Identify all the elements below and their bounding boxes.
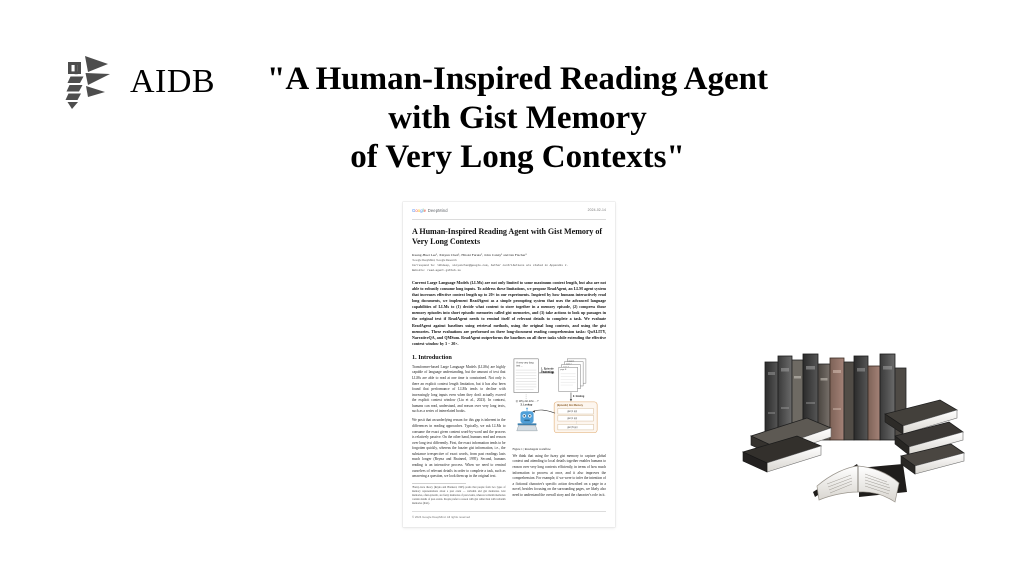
slide-root: AIDB "A Human-Inspired Reading Agent wit… — [0, 0, 1024, 576]
google-deepmind-logo: GoogleDeepMind — [412, 209, 448, 213]
svg-text:page N: page N — [560, 369, 567, 371]
svg-text:Q: Why did John ... ?: Q: Why did John ... ? — [515, 400, 538, 403]
svg-text:Pagination: Pagination — [541, 370, 554, 373]
svg-text:⋮: ⋮ — [574, 420, 577, 424]
figure-caption: Figure 1 | ReadAgent workflow. — [513, 447, 607, 451]
svg-text:gist (1 pp): gist (1 pp) — [567, 410, 577, 413]
paper-header: GoogleDeepMind 2024-02-14 — [412, 209, 606, 217]
headline-line-2: with Gist Memory — [245, 99, 790, 138]
paper-title: A Human-Inspired Reading Agent with Gist… — [412, 227, 606, 247]
copyright-rule — [412, 511, 606, 512]
page-title: "A Human-Inspired Reading Agent with Gis… — [245, 60, 790, 177]
paper-copyright: © 2024 Google DeepMind. All rights reser… — [412, 515, 470, 519]
paper-date: 2024-02-14 — [588, 209, 606, 212]
svg-text:(Episodic) Gist Memory: (Episodic) Gist Memory — [556, 404, 583, 407]
paper-thumbnail[interactable]: GoogleDeepMind 2024-02-14 A Human-Inspir… — [403, 202, 615, 527]
stack-of-books-illustration — [735, 352, 967, 508]
bee-logo-icon — [58, 52, 114, 112]
brand-name: AIDB — [130, 65, 215, 99]
paper-columns: 1. Introduction Transformer-based Large … — [412, 354, 606, 506]
headline-line-1: "A Human-Inspired Reading Agent — [245, 60, 790, 99]
paper-body-right: We think that using the fuzzy gist memor… — [513, 454, 607, 499]
paper-affiliations: ¹Google DeepMind, ²Google Research — [412, 258, 606, 262]
paper-footnote: ¹Fuzzy-trace theory (Reyna and Brainerd,… — [412, 486, 506, 505]
paper-website[interactable]: Website: read-agent.github.io — [412, 269, 606, 273]
paragraph: We think that using the fuzzy gist memor… — [513, 454, 607, 499]
paper-header-rule — [412, 219, 606, 220]
paper-abstract: Current Large Language Models (LLMs) are… — [412, 280, 606, 347]
paragraph: We posit that an underlying reason for t… — [412, 418, 506, 479]
paper-column-left: 1. Introduction Transformer-based Large … — [412, 354, 506, 506]
paper-column-right: A very very long text ... — [513, 354, 607, 506]
paper-body-left: Transformer-based Large Language Models … — [412, 365, 506, 480]
paper-section-heading: 1. Introduction — [412, 354, 506, 361]
headline-line-3: of Very Long Contexts" — [245, 138, 790, 177]
figure-1: A very very long text ... — [513, 354, 607, 451]
svg-text:2. Gisting: 2. Gisting — [572, 395, 584, 398]
footnote-rule — [412, 483, 466, 484]
paper-page: GoogleDeepMind 2024-02-14 A Human-Inspir… — [403, 202, 615, 527]
paragraph: Transformer-based Large Language Models … — [412, 365, 506, 415]
svg-text:text ...: text ... — [516, 364, 523, 367]
svg-text:gist (N pp): gist (N pp) — [567, 426, 578, 429]
brand-lockup: AIDB — [58, 52, 215, 112]
paper-contact: Correspond to: lkhdeep, sinyunchen@googl… — [412, 264, 606, 268]
readagent-workflow-diagram: A very very long text ... — [513, 354, 607, 446]
svg-text:3. Lookup: 3. Lookup — [520, 403, 532, 406]
